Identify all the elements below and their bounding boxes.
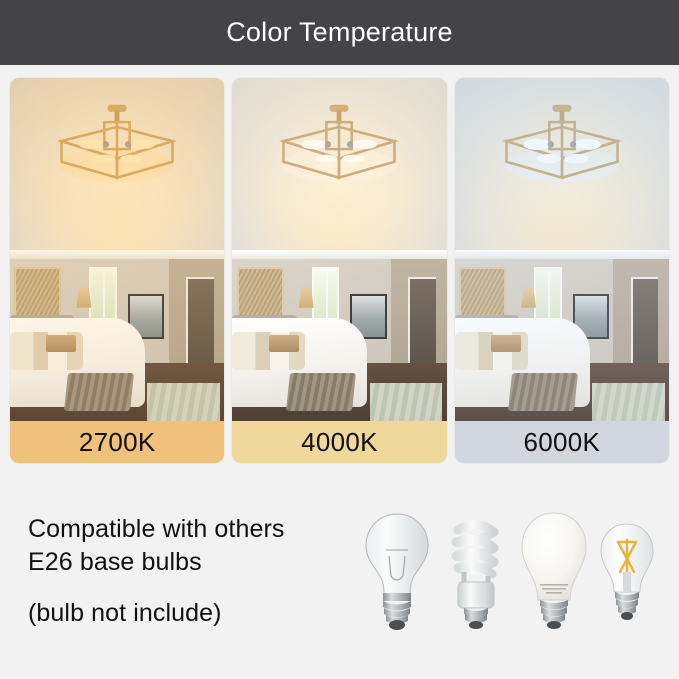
panel-6000k[interactable]: 6000K [455,78,669,463]
compat-line-2: E26 base bulbs [28,546,348,579]
bed-tray [491,335,521,352]
compatibility-text-block: Compatible with others E26 base bulbs (b… [28,513,348,630]
bed-bench [508,373,578,411]
e26-screw-base [615,592,639,620]
bed-bench [64,373,134,411]
bed-bench [286,373,356,411]
e26-screw-base [464,608,488,629]
color-temperature-label: 6000K [523,427,600,458]
header-bar: Color Temperature [0,0,679,65]
rug [370,383,443,421]
label-bar-4000k: 4000K [232,421,446,463]
compatibility-section: Compatible with others E26 base bulbs (b… [0,463,679,679]
page-title: Color Temperature [226,19,453,46]
e26-screw-base [540,600,568,629]
color-temperature-label: 4000K [301,427,378,458]
label-bar-6000k: 6000K [455,421,669,463]
scene-bedroom-warm [10,78,224,421]
compat-line-1: Compatible with others [28,513,348,546]
cfl-spiral-bulb-icon [440,510,512,632]
rug [592,383,665,421]
scene-bedroom-cool [455,78,669,421]
e26-screw-base [383,601,411,630]
infographic-page: Color Temperature [0,0,679,679]
ceiling-light-fixture [483,92,642,187]
rug [147,383,220,421]
incandescent-bulb-icon [358,510,436,632]
panel-4000k[interactable]: 4000K [232,78,446,463]
crown-molding [232,250,446,259]
bed-tray [46,335,76,352]
crown-molding [455,250,669,259]
crown-molding [10,250,224,259]
compatible-bulbs-row [354,510,661,632]
color-temperature-panels: 2700K [0,65,679,463]
label-bar-2700k: 2700K [10,421,224,463]
spiral-tube [456,524,494,574]
compat-line-3: (bulb not include) [28,597,348,630]
led-filament-bulb-icon [596,520,658,632]
ceiling-light-fixture [38,92,197,187]
bed-tray [269,335,299,352]
scene-bedroom-neutral [232,78,446,421]
led-a19-bulb-icon [516,510,592,632]
ceiling-light-fixture [260,92,419,187]
panel-2700k[interactable]: 2700K [10,78,224,463]
color-temperature-label: 2700K [79,427,156,458]
